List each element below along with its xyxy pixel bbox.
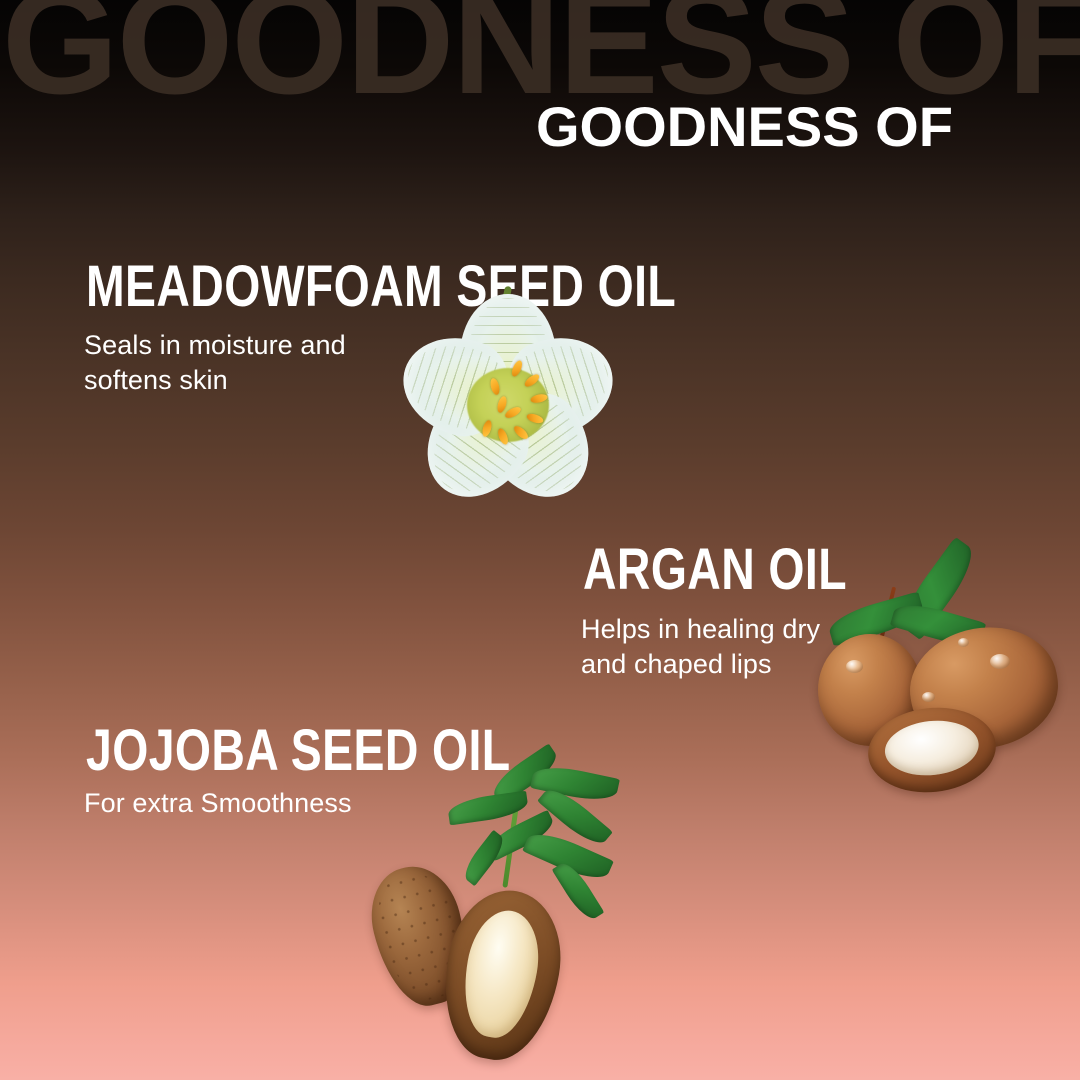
jojoba-seeds-icon [360,760,640,1050]
water-droplet [958,638,969,647]
page-title: GOODNESS OF [536,99,953,155]
jojoba-leaf [459,830,509,886]
water-droplet [990,654,1010,669]
ingredient-description-jojoba: For extra Smoothness [84,786,352,821]
water-droplet [846,660,863,673]
poster: GOODNESS OF GOODNESS OF MEADOWFOAM SEED … [0,0,1080,1080]
ingredient-description-argan: Helps in healing dry and chaped lips [581,612,820,682]
water-droplet [922,692,935,702]
meadowfoam-flower-icon [405,300,610,500]
argan-nuts-icon [800,578,1070,788]
ingredient-description-meadowfoam: Seals in moisture and softens skin [84,328,346,398]
jojoba-leaf [447,791,530,826]
